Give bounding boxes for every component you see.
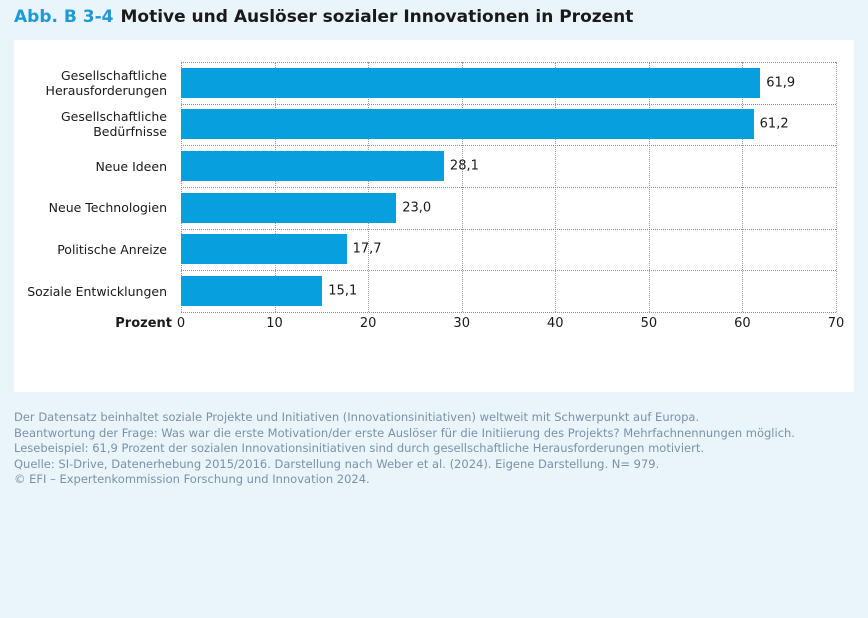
category-label-line: Gesellschaftliche [61,68,167,83]
figure-title-bar: Abb. B 3-4 Motive und Auslöser sozialer … [14,7,854,33]
footnote-line: Beantwortung der Frage: Was war die erst… [14,426,854,442]
x-tick-label: 30 [453,316,470,331]
x-tick-label: 60 [734,316,751,331]
bar-row: 15,1 [181,270,836,312]
footnote-line: Quelle: SI-Drive, Datenerhebung 2015/201… [14,457,854,473]
x-tick-label: 0 [177,316,185,331]
bar-value-label: 61,9 [766,75,795,90]
page-title: Motive und Auslöser sozialer Innovatione… [120,7,633,27]
category-axis-labels: GesellschaftlicheHerausforderungenGesell… [14,62,174,312]
chart-panel: GesellschaftlicheHerausforderungenGesell… [14,40,854,392]
bar-row: 28,1 [181,145,836,187]
x-axis-title: Prozent [68,316,172,331]
bar[interactable]: 61,2 [181,109,754,139]
bar-value-label: 61,2 [760,117,789,132]
bar-row: 17,7 [181,229,836,271]
category-label-line: Neue Technologien [49,200,167,215]
category-label: Neue Ideen [14,145,174,187]
x-axis-ticks: 010203040506070 [181,316,836,338]
gridline-vertical [836,62,838,312]
figure-root: Abb. B 3-4 Motive und Auslöser sozialer … [0,0,868,618]
footnote-line: Der Datensatz beinhaltet soziale Projekt… [14,410,854,426]
category-label: Politische Anreize [14,229,174,271]
bar[interactable]: 17,7 [181,234,347,264]
category-label-line: Politische Anreize [57,242,167,257]
bar[interactable]: 23,0 [181,193,396,223]
bar[interactable]: 15,1 [181,276,322,306]
x-tick-label: 20 [360,316,377,331]
footnote-line: Lesebeispiel: 61,9 Prozent der sozialen … [14,441,854,457]
bar-value-label: 28,1 [450,159,479,174]
category-label-line: Herausforderungen [46,83,167,98]
category-label-line: Gesellschaftliche [61,109,167,124]
category-label: Soziale Entwicklungen [14,270,174,312]
bar-row: 23,0 [181,187,836,229]
bar-value-label: 15,1 [328,284,357,299]
bar-row: 61,9 [181,62,836,104]
category-label-line: Soziale Entwicklungen [27,284,167,299]
x-tick-label: 10 [266,316,283,331]
category-label: Neue Technologien [14,187,174,229]
category-label: GesellschaftlicheHerausforderungen [14,62,174,104]
category-label-line: Bedürfnisse [93,124,167,139]
category-label: GesellschaftlicheBedürfnisse [14,104,174,146]
bar-value-label: 17,7 [353,242,382,257]
figure-number: Abb. B 3-4 [14,7,113,27]
footnote-line: © EFI – Expertenkommission Forschung und… [14,472,854,488]
footnotes: Der Datensatz beinhaltet soziale Projekt… [14,410,854,488]
bar[interactable]: 28,1 [181,151,444,181]
x-tick-label: 70 [828,316,845,331]
plot-area: 61,961,228,123,017,715,1 [181,62,836,312]
category-label-line: Neue Ideen [95,159,167,174]
x-tick-label: 40 [547,316,564,331]
bar-row: 61,2 [181,104,836,146]
bar[interactable]: 61,9 [181,68,760,98]
bar-value-label: 23,0 [402,200,431,215]
x-tick-label: 50 [641,316,658,331]
gridline-horizontal [181,312,836,313]
